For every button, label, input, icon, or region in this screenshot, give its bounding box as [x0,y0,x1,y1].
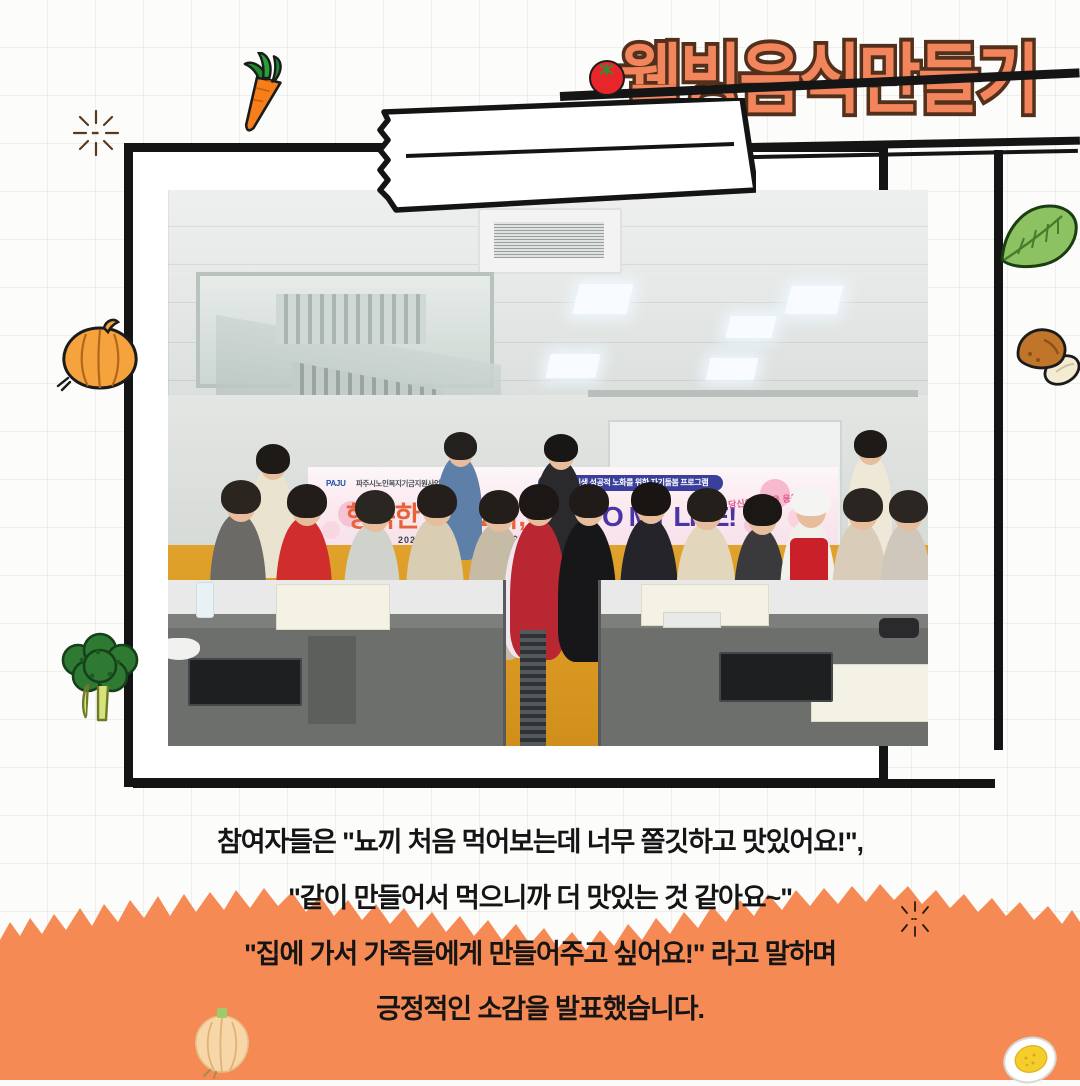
wall-rail [588,390,918,397]
photo-frame-bottom-rail [133,779,995,788]
sparkle-icon [68,105,124,161]
kitchen-counter-left [168,580,506,746]
floor-drain [520,630,546,746]
caption-line-3: "집에 가서 가족들에게 만들어주고 싶어요!" 라고 말하며 [0,938,1080,972]
hood-pipes [276,294,426,344]
broccoli-icon [52,630,146,722]
garlic-onion-icon [186,1002,258,1080]
kitchen-counter-right [598,580,928,746]
onion-icon [56,316,146,394]
tomato-icon [589,60,625,96]
mushroom-icon [1014,320,1080,390]
carrot-icon [222,52,298,140]
sparkle-icon-small [896,900,934,938]
cabbage-leaf-icon [996,198,1080,272]
caption-line-1: 참여자들은 "뇨끼 처음 먹어보는데 너무 쫄깃하고 맛있어요!", [0,826,1080,860]
event-photo: PAJU 파주시노인복지기금지원사업 100세 인생 성공적 노화를 위한 자기… [168,190,928,746]
boiled-egg-icon [1000,1030,1062,1086]
ceiling-aircon [478,208,622,274]
caption-line-4: 긍정적인 소감을 발표했습니다. [0,993,1080,1027]
zigzag-ribbon [366,98,756,216]
